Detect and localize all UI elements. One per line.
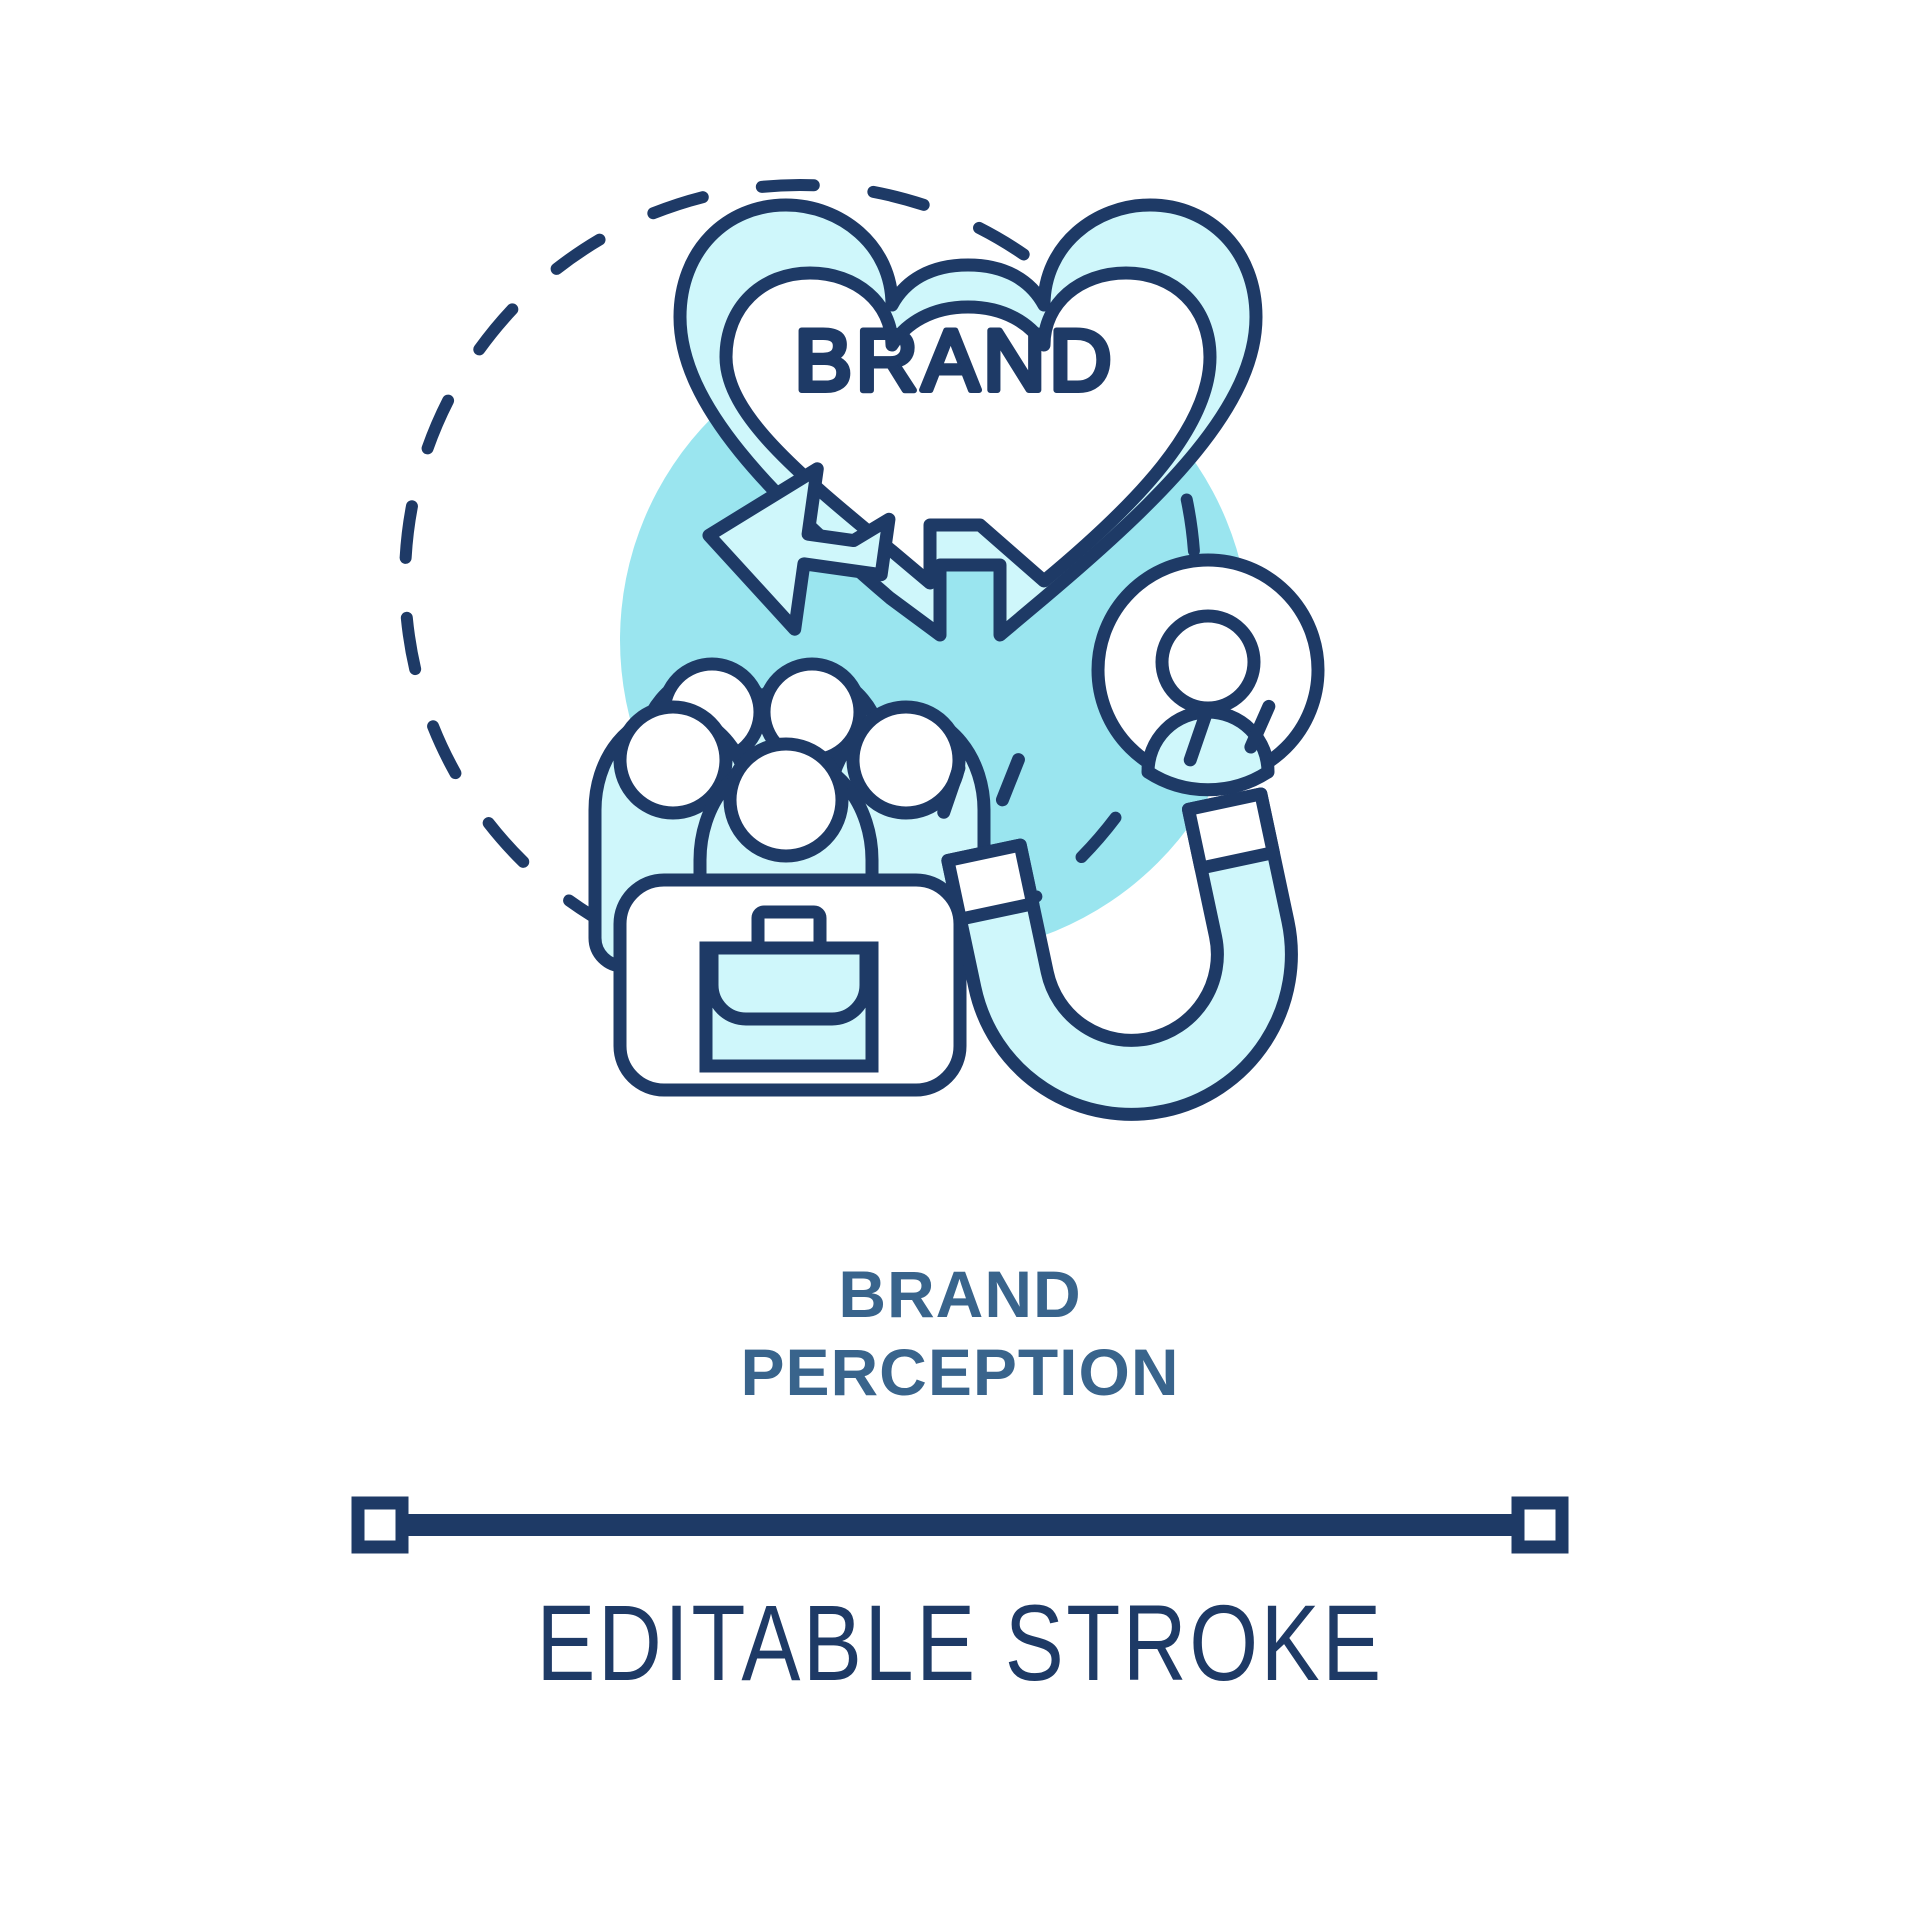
user-avatar-icon — [1098, 560, 1318, 790]
brand-perception-illustration: BRAND — [0, 0, 1920, 1230]
title-line-1: BRAND — [0, 1255, 1920, 1333]
editable-stroke-label: EDITABLE STROKE — [173, 1587, 1747, 1699]
desk-panel — [620, 880, 960, 1090]
stroke-bar-left-handle[interactable] — [358, 1503, 402, 1547]
title-line-2: PERCEPTION — [0, 1333, 1920, 1411]
magnet-pole-right — [1188, 794, 1273, 868]
illustration-area: BRAND — [0, 0, 1920, 1230]
briefcase-body — [706, 948, 872, 1066]
editable-stroke-note: EDITABLE STROKE — [0, 1490, 1920, 1699]
heart-brand-label: BRAND — [794, 313, 1115, 409]
concept-title: BRAND PERCEPTION — [0, 1255, 1920, 1411]
person-center-head — [730, 744, 842, 856]
magnet-pole-left — [948, 845, 1033, 919]
avatar-head — [1162, 616, 1254, 708]
stroke-width-bar — [0, 1490, 1920, 1560]
concept-icon-canvas: BRAND — [0, 0, 1920, 1920]
stroke-bar-right-handle[interactable] — [1518, 1503, 1562, 1547]
